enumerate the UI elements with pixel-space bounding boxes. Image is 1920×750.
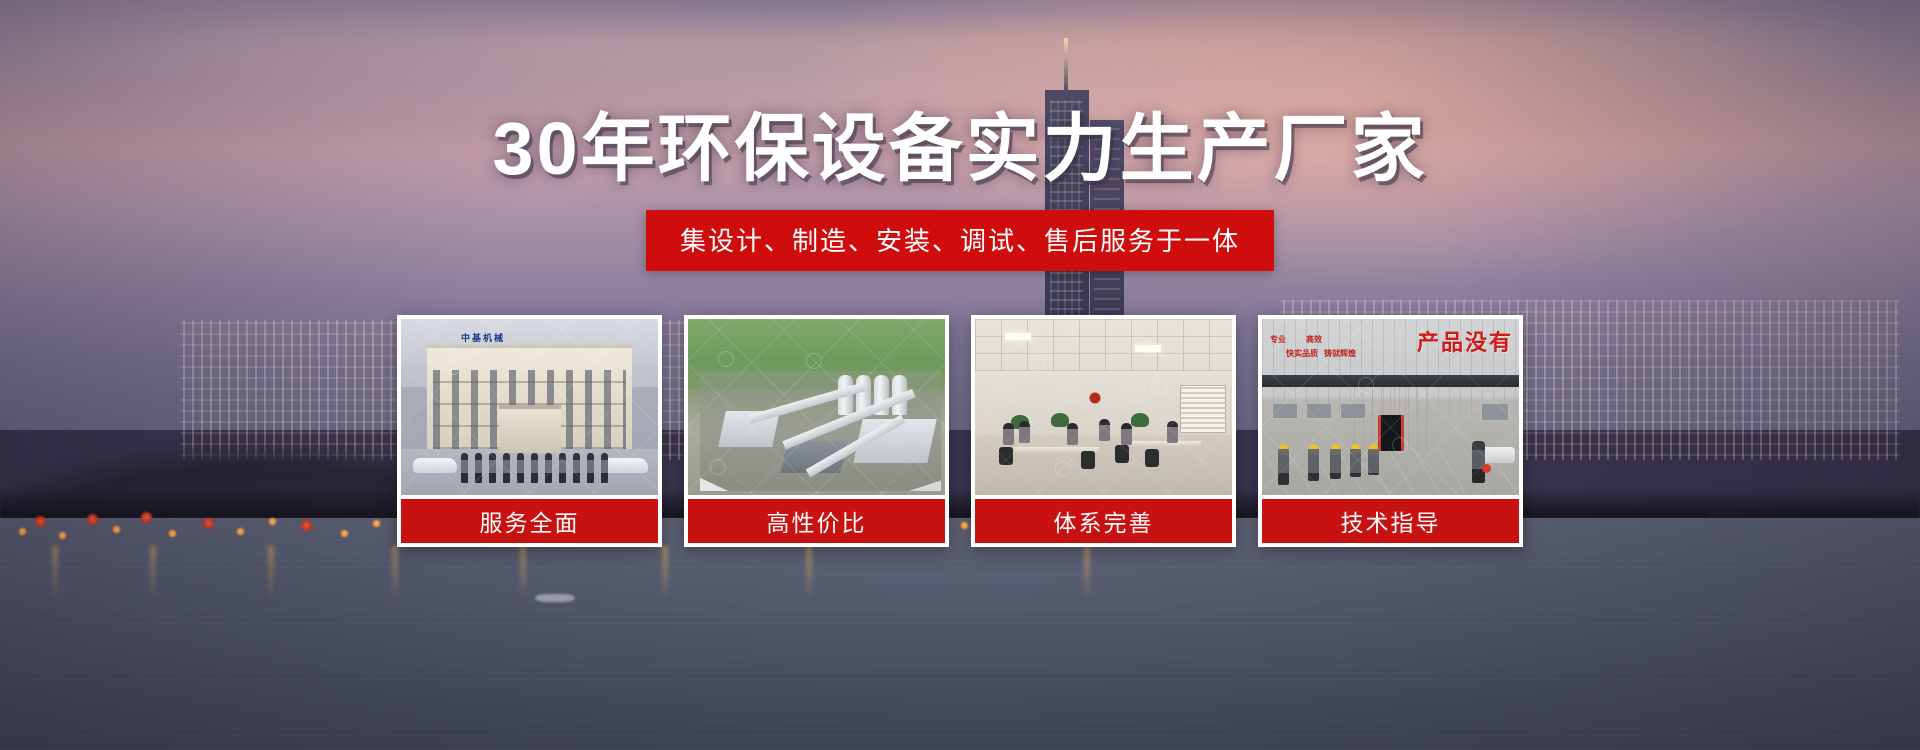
feature-card-row: 中基机械 <box>397 315 1523 547</box>
factory-slogan: 铸就辉煌 <box>1324 349 1356 358</box>
workers-in-front-of-factory-workshop-photo: 产品没有 专业 高效 快实品质 铸就辉煌 <box>1262 319 1519 495</box>
aerial-view-industrial-plant-photo <box>688 319 945 495</box>
feature-card-label: 服务全面 <box>401 499 658 543</box>
hero-headline: 30年环保设备实力生产厂家 <box>492 112 1427 186</box>
hero-subtitle-banner: 集设计、制造、安装、调试、售后服务于一体 <box>646 210 1274 271</box>
factory-sign-text: 产品没有 <box>1417 325 1513 357</box>
company-office-building-with-staff-photo: 中基机械 <box>401 319 658 495</box>
feature-card[interactable]: 产品没有 专业 高效 快实品质 铸就辉煌 <box>1258 315 1523 547</box>
feature-card-label: 技术指导 <box>1262 499 1519 543</box>
hero-content: 30年环保设备实力生产厂家 集设计、制造、安装、调试、售后服务于一体 中基机械 <box>0 0 1920 750</box>
factory-slogan: 专业 <box>1270 335 1286 344</box>
feature-card-label: 体系完善 <box>975 499 1232 543</box>
feature-card[interactable]: 中基机械 <box>397 315 662 547</box>
factory-slogan: 高效 <box>1306 335 1322 344</box>
wall-logo <box>1081 391 1109 411</box>
hero-banner: 30年环保设备实力生产厂家 集设计、制造、安装、调试、售后服务于一体 中基机械 <box>0 0 1920 750</box>
feature-card[interactable]: 体系完善 <box>971 315 1236 547</box>
building-sign-text: 中基机械 <box>461 331 505 344</box>
feature-card[interactable]: 高性价比 <box>684 315 949 547</box>
office-interior-with-employees-photo <box>975 319 1232 495</box>
feature-card-label: 高性价比 <box>688 499 945 543</box>
factory-slogan: 快实品质 <box>1286 349 1318 358</box>
